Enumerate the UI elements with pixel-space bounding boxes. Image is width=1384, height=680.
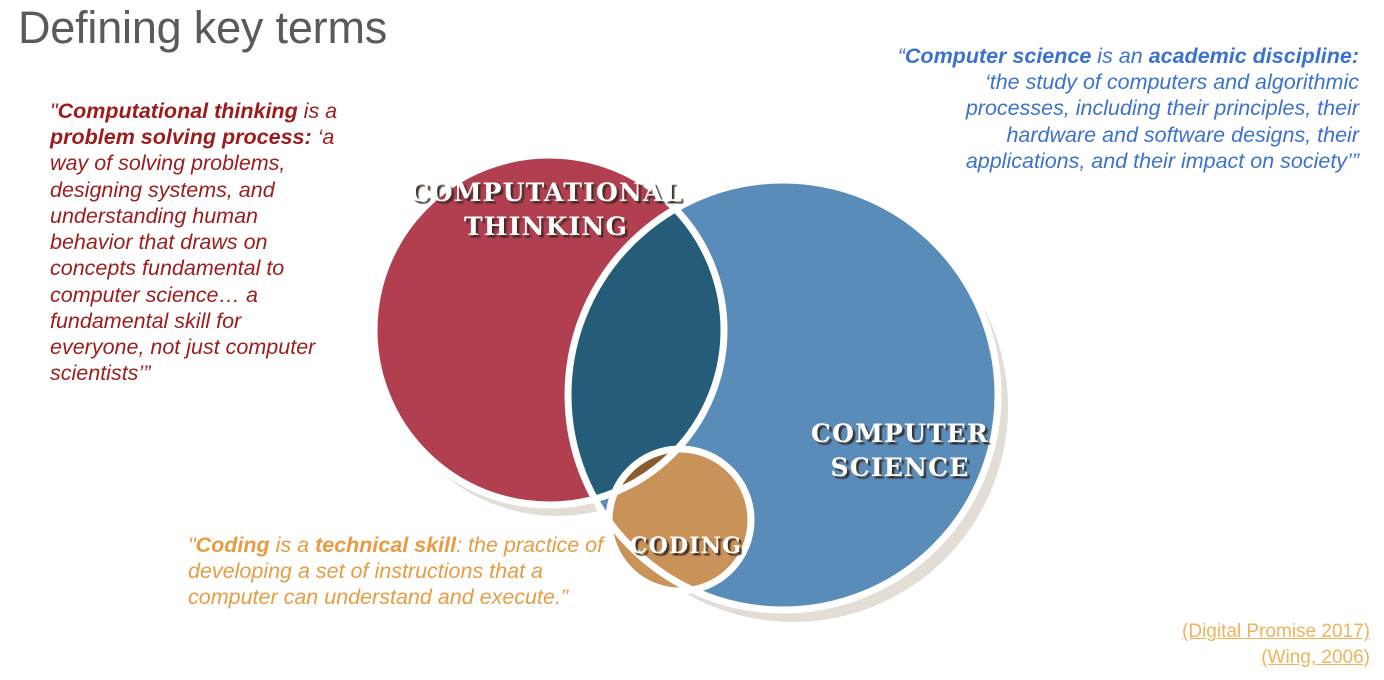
- page-title: Defining key terms: [18, 2, 387, 54]
- quote-ct-body: ‘a way of solving problems, designing sy…: [50, 125, 334, 385]
- quote-coding: "Coding is a technical skill: the practi…: [188, 532, 608, 611]
- quote-cs-body: ‘the study of computers and algorithmic …: [966, 70, 1359, 173]
- computer-science-label-line1: COMPUTER: [811, 419, 989, 448]
- computational-thinking-label-line1: COMPUTATIONAL: [410, 178, 683, 207]
- quote-ct-bold-2: problem solving process:: [50, 125, 312, 149]
- quote-cs-open: “: [898, 44, 905, 68]
- computer-science-label-line2: SCIENCE: [831, 453, 970, 482]
- quote-computational-thinking: "Computational thinking is a problem sol…: [50, 98, 340, 386]
- coding-label: CODING: [630, 533, 742, 559]
- quote-cs-mid-1: is an: [1091, 44, 1148, 68]
- quote-coding-bold-2: technical skill: [315, 533, 456, 557]
- quote-coding-mid-1: is a: [270, 533, 315, 557]
- quote-cs-bold-1: Computer science: [905, 44, 1091, 68]
- quote-ct-bold-1: Computational thinking: [58, 99, 298, 123]
- quote-cs-bold-2: academic discipline:: [1149, 44, 1359, 68]
- computational-thinking-label-line2: THINKING: [464, 212, 628, 241]
- quote-computer-science: “Computer science is an academic discipl…: [889, 43, 1359, 174]
- quote-ct-mid-1: is a: [298, 99, 337, 123]
- quote-coding-open: ": [188, 533, 196, 557]
- citation-link-wing[interactable]: (Wing, 2006): [1182, 645, 1370, 670]
- citation-link-digital-promise[interactable]: (Digital Promise 2017): [1182, 619, 1370, 644]
- citations: (Digital Promise 2017) (Wing, 2006): [1182, 619, 1370, 670]
- quote-ct-open: ": [50, 99, 58, 123]
- quote-coding-bold-1: Coding: [196, 533, 270, 557]
